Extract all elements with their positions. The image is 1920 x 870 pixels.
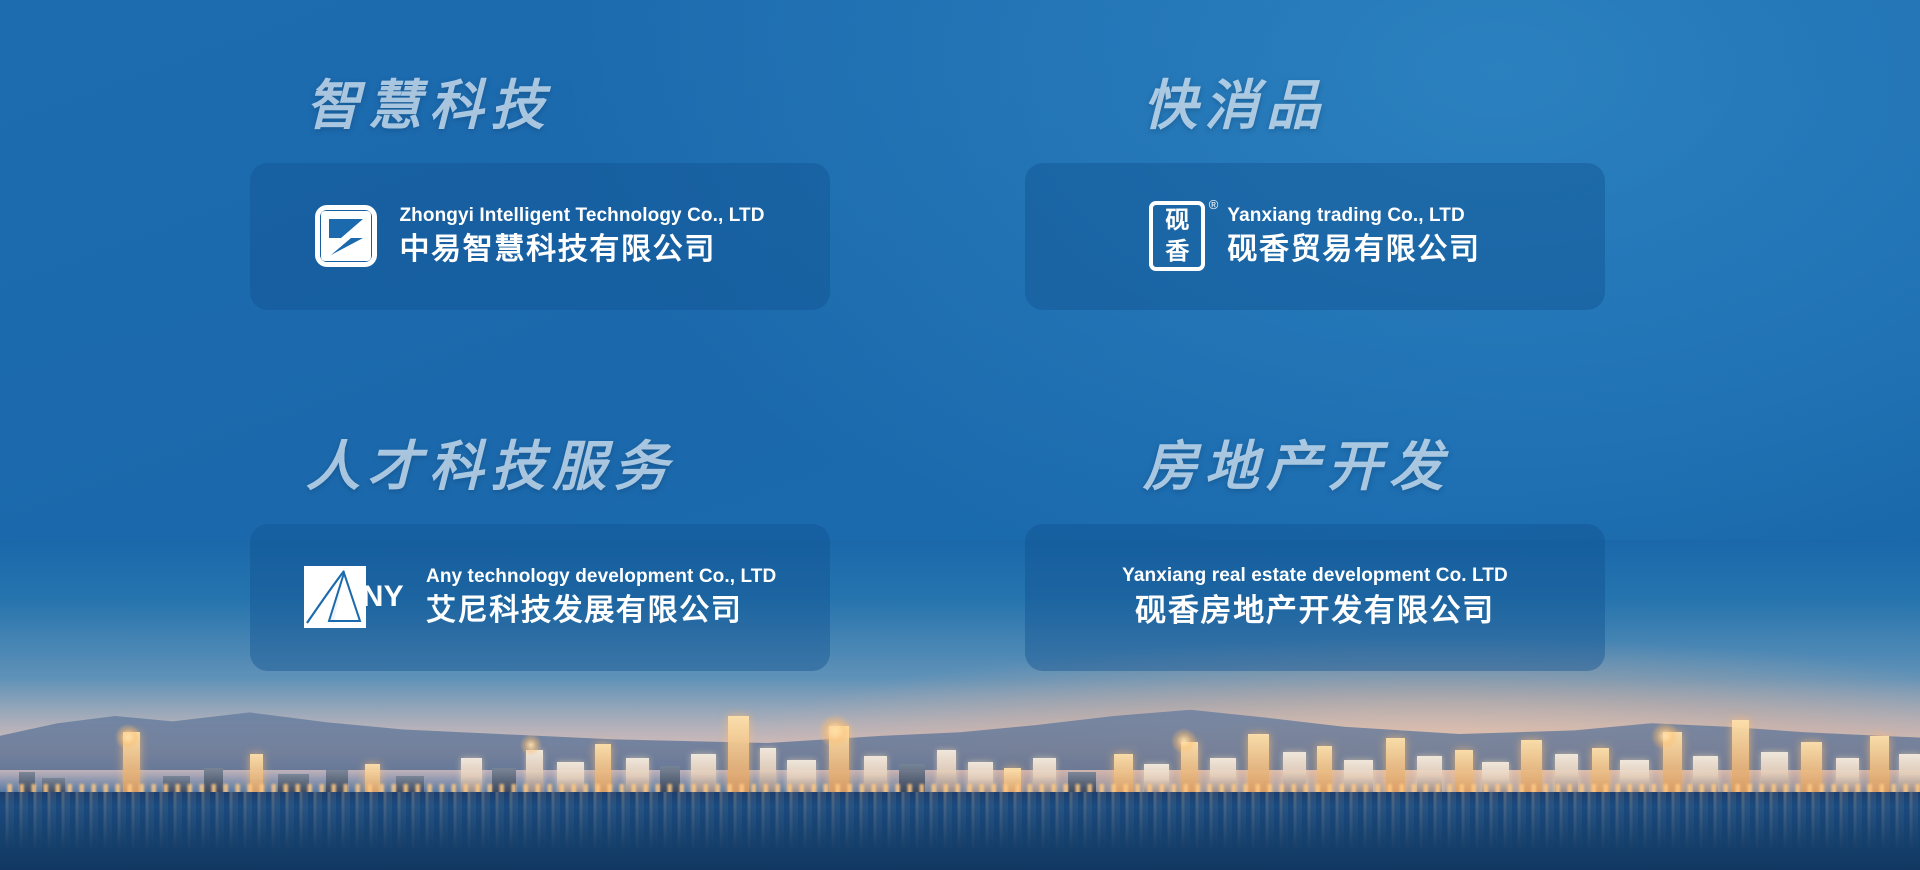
registered-trademark-icon: ® [1209, 198, 1219, 211]
company-names: Yanxiang real estate development Co. LTD… [1122, 564, 1508, 631]
company-name-en: Any technology development Co., LTD [426, 565, 776, 589]
segment-fmcg: 快消品 砚 香 ® Yanxiang trading Co., LTD 砚香贸易… [1025, 78, 1670, 429]
company-card-any[interactable]: NY Any technology development Co., LTD 艾… [250, 524, 830, 671]
company-name-en: Yanxiang trading Co., LTD [1227, 204, 1480, 228]
company-name-en: Zhongyi Intelligent Technology Co., LTD [399, 204, 764, 228]
company-name-cn: 艾尼科技发展有限公司 [426, 592, 776, 630]
company-name-cn: 中易智慧科技有限公司 [399, 231, 764, 269]
segment-real-estate: 房地产开发 Yanxiang real estate development C… [1025, 439, 1670, 790]
any-mountain-logo-icon: NY [304, 566, 404, 628]
company-name-cn: 砚香贸易有限公司 [1227, 231, 1480, 269]
seal-char-top: 砚 [1149, 209, 1205, 233]
company-name-cn: 砚香房地产开发有限公司 [1135, 592, 1495, 631]
company-card-yanxiang-real-estate[interactable]: Yanxiang real estate development Co. LTD… [1025, 524, 1605, 671]
segment-heading: 房地产开发 [1143, 439, 1451, 496]
zhongyi-z-logo-icon [315, 205, 377, 267]
segment-talent-tech-services: 人才科技服务 [250, 439, 895, 790]
segment-heading: 人才科技服务 [306, 439, 675, 496]
segment-smart-technology: 智慧科技 Zhongyi Intelligent Techno [250, 78, 895, 429]
yanxiang-seal-logo-icon: 砚 香 ® [1149, 201, 1205, 271]
company-names: Zhongyi Intelligent Technology Co., LTD … [399, 204, 764, 269]
company-card-zhongyi[interactable]: Zhongyi Intelligent Technology Co., LTD … [250, 163, 830, 310]
seal-char-bottom: 香 [1149, 240, 1205, 264]
any-logo-text: NY [362, 580, 404, 614]
company-card-yanxiang-trading[interactable]: 砚 香 ® Yanxiang trading Co., LTD 砚香贸易有限公司 [1025, 163, 1605, 310]
page-root: 智慧科技 Zhongyi Intelligent Techno [0, 0, 1920, 870]
segment-heading: 智慧科技 [306, 78, 552, 135]
segment-heading: 快消品 [1143, 78, 1328, 135]
company-names: Yanxiang trading Co., LTD 砚香贸易有限公司 [1227, 204, 1480, 269]
company-names: Any technology development Co., LTD 艾尼科技… [426, 565, 776, 630]
segments-grid: 智慧科技 Zhongyi Intelligent Techno [0, 0, 1920, 870]
company-name-en: Yanxiang real estate development Co. LTD [1122, 564, 1508, 588]
